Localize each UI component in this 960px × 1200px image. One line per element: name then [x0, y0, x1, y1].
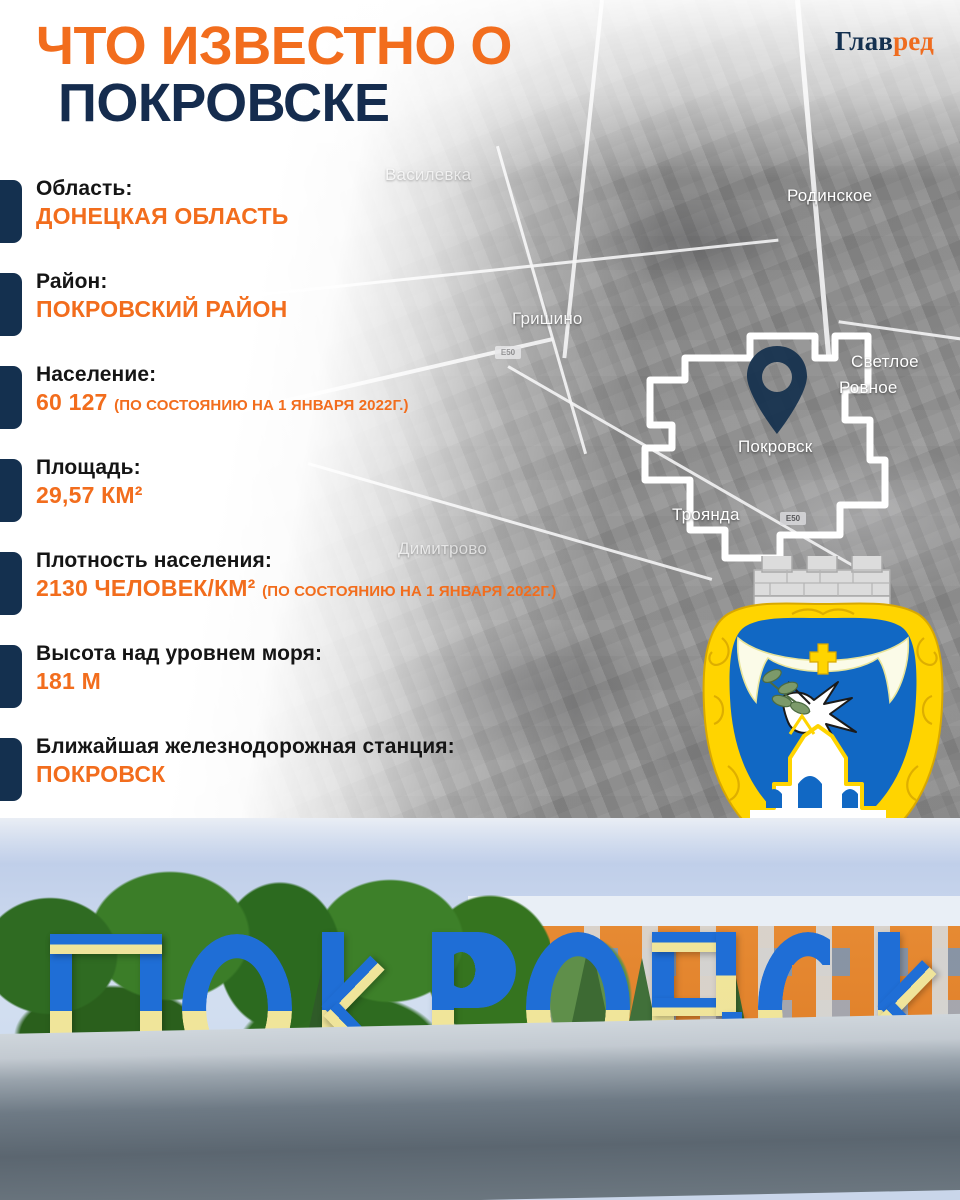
fact-item-area: Площадь: 29,57 КМ² [0, 455, 740, 526]
fact-note: (ПО СОСТОЯНИЮ НА 1 ЯНВАРЯ 2022Г.) [114, 397, 408, 414]
fact-label: Ближайшая железнодорожная станция: [36, 734, 740, 760]
map-place-label-pokrovsk: Покровск [738, 437, 812, 457]
brand-logo-part-dark: Глав [835, 26, 893, 56]
bullet-marker [0, 459, 22, 522]
map-place-label: Светлое [851, 352, 919, 372]
fact-label: Площадь: [36, 455, 740, 481]
fact-item-population-density: Плотность населения: 2130 ЧЕЛОВЕК/КМ² (П… [0, 548, 740, 619]
fact-list: Область: ДОНЕЦКАЯ ОБЛАСТЬ Район: ПОКРОВС… [0, 176, 740, 827]
city-entrance-photo [0, 818, 960, 1200]
map-place-label: Ровное [839, 378, 898, 398]
bullet-marker [0, 366, 22, 429]
fact-value: ДОНЕЦКАЯ ОБЛАСТЬ [36, 202, 740, 232]
fact-note: (ПО СОСТОЯНИЮ НА 1 ЯНВАРЯ 2022Г.) [262, 583, 556, 600]
fact-value-wrap: 60 127 (ПО СОСТОЯНИЮ НА 1 ЯНВАРЯ 2022Г.) [36, 388, 740, 418]
letter-glyph [652, 932, 726, 952]
fact-item-district: Район: ПОКРОВСКИЙ РАЙОН [0, 269, 740, 340]
infographic-root: E50 E50 Василевка Родинское Гришино Свет… [0, 0, 960, 1200]
bullet-marker [0, 273, 22, 336]
fact-label: Плотность населения: [36, 548, 740, 574]
fact-value-wrap: 2130 ЧЕЛОВЕК/КМ² (ПО СОСТОЯНИЮ НА 1 ЯНВА… [36, 574, 740, 604]
brand-logo[interactable]: Главред [835, 26, 934, 57]
bullet-marker [0, 552, 22, 615]
fact-label: Население: [36, 362, 740, 388]
fact-item-region: Область: ДОНЕЦКАЯ ОБЛАСТЬ [0, 176, 740, 247]
page-title-line-1: ЧТО ИЗВЕСТНО О [36, 18, 656, 75]
fact-value: ПОКРОВСКИЙ РАЙОН [36, 295, 740, 325]
fact-value: 181 М [36, 667, 740, 697]
map-place-label: Родинское [787, 186, 872, 206]
fact-value: ПОКРОВСК [36, 760, 740, 790]
map-pin-icon [744, 344, 810, 436]
fact-item-elevation: Высота над уровнем моря: 181 М [0, 641, 740, 712]
fact-label: Высота над уровнем моря: [36, 641, 740, 667]
road-shield-e50: E50 [780, 512, 806, 525]
bullet-marker [0, 738, 22, 801]
page-title-line-2: ПОКРОВСКЕ [36, 75, 656, 132]
bullet-marker [0, 645, 22, 708]
fact-item-railway-station: Ближайшая железнодорожная станция: ПОКРО… [0, 734, 740, 805]
fact-value: 60 127 [36, 389, 108, 415]
letter-glyph [446, 932, 516, 1008]
fact-item-population: Население: 60 127 (ПО СОСТОЯНИЮ НА 1 ЯНВ… [0, 362, 740, 433]
fact-value: 29,57 КМ² [36, 481, 740, 511]
fact-label: Область: [36, 176, 740, 202]
letter-glyph [652, 998, 726, 1016]
letter-glyph [716, 932, 736, 1016]
photo-plinth [0, 1014, 960, 1200]
letter-glyph [50, 934, 162, 954]
page-title: ЧТО ИЗВЕСТНО О ПОКРОВСКЕ [36, 18, 656, 132]
road-shield-label: E50 [786, 514, 800, 523]
bullet-marker [0, 180, 22, 243]
brand-logo-part-orange: ред [893, 26, 934, 56]
fact-value: 2130 ЧЕЛОВЕК/КМ² [36, 575, 256, 601]
fact-label: Район: [36, 269, 740, 295]
